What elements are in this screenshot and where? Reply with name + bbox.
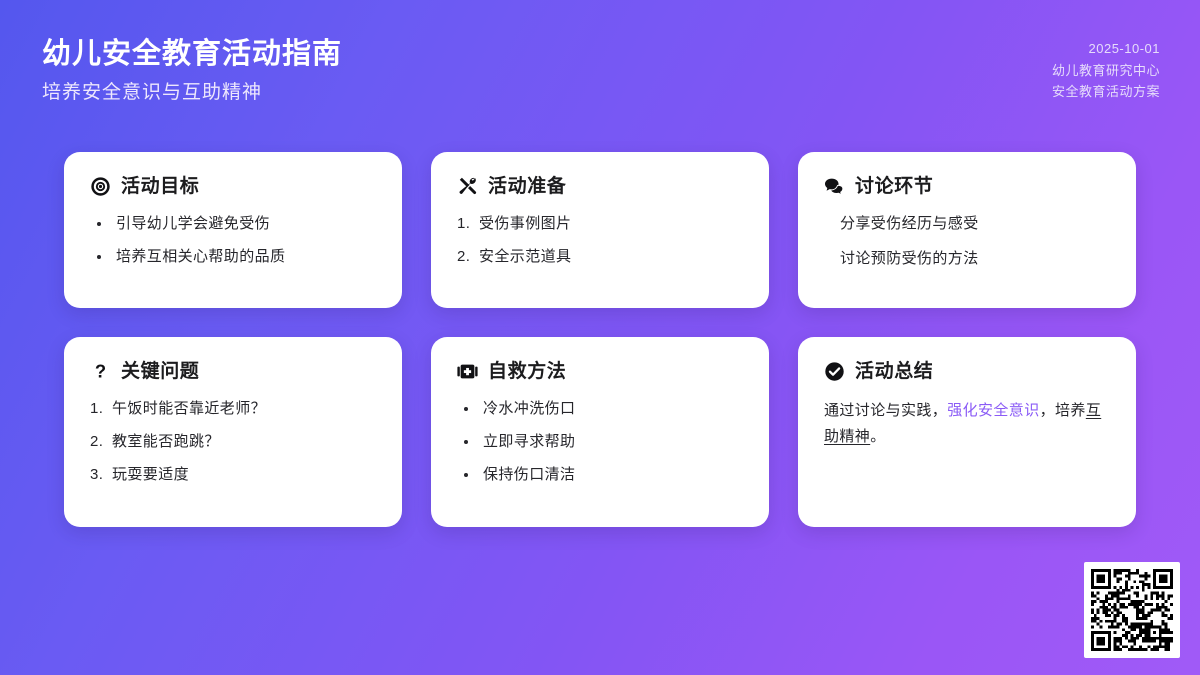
card-title: 活动准备 (488, 177, 566, 196)
card-list: 1.午饭时能否靠近老师？ 2.教室能否跑跳？ 3.玩耍要适度 (90, 398, 376, 485)
header-meta: 2025-10-01 幼儿教育研究中心 安全教育活动方案 (1052, 36, 1160, 101)
list-item: 保持伤口清洁 (457, 464, 743, 486)
card-title: 关键问题 (121, 362, 199, 381)
card-title: 活动总结 (855, 362, 933, 381)
meta-date: 2025-10-01 (1052, 40, 1160, 58)
list-item-text: 安全示范道具 (479, 248, 571, 265)
card-header: 讨论环节 (824, 176, 1110, 197)
list-item: 培养互相关心帮助的品质 (90, 246, 376, 268)
list-item-text: 玩耍要适度 (112, 466, 189, 483)
page-title: 幼儿安全教育活动指南 (42, 36, 342, 74)
card-header: 活动目标 (90, 176, 376, 197)
target-icon (90, 176, 111, 197)
card-header: 活动总结 (824, 361, 1110, 382)
card-grid: 活动目标 引导幼儿学会避免受伤 培养互相关心帮助的品质 (64, 152, 1136, 527)
list-item: 3.玩耍要适度 (90, 464, 376, 486)
card-list: 1.受伤事例图片 2.安全示范道具 (457, 213, 743, 268)
card-title: 自救方法 (488, 362, 566, 381)
card-self-rescue[interactable]: 自救方法 冷水冲洗伤口 立即寻求帮助 保持伤口清洁 (431, 337, 769, 527)
card-activity-preparation[interactable]: 活动准备 1.受伤事例图片 2.安全示范道具 (431, 152, 769, 308)
list-item: 1.受伤事例图片 (457, 213, 743, 235)
card-title: 讨论环节 (855, 177, 933, 196)
card-list: 分享受伤经历与感受 讨论预防受伤的方法 (824, 213, 1110, 270)
question-mark-icon: ? (90, 361, 111, 382)
card-list: 引导幼儿学会避免受伤 培养互相关心帮助的品质 (90, 213, 376, 268)
slide-canvas: 幼儿安全教育活动指南 培养安全意识与互助精神 2025-10-01 幼儿教育研究… (0, 0, 1200, 675)
list-item-text: 受伤事例图片 (479, 215, 571, 232)
list-item: 讨论预防受伤的方法 (840, 248, 1110, 270)
card-key-questions[interactable]: ? 关键问题 1.午饭时能否靠近老师？ 2.教室能否跑跳？ 3.玩耍要适度 (64, 337, 402, 527)
list-item: 冷水冲洗伤口 (457, 398, 743, 420)
check-circle-icon (824, 361, 845, 382)
meta-organization: 幼儿教育研究中心 (1052, 62, 1160, 80)
card-summary[interactable]: 活动总结 通过讨论与实践，强化安全意识，培养互助精神。 (798, 337, 1136, 527)
list-item: 2.安全示范道具 (457, 246, 743, 268)
summary-before: 通过讨论与实践， (824, 402, 947, 419)
card-header: ? 关键问题 (90, 361, 376, 382)
card-header: 活动准备 (457, 176, 743, 197)
card-header: 自救方法 (457, 361, 743, 382)
list-item: 分享受伤经历与感受 (840, 213, 1110, 235)
title-block: 幼儿安全教育活动指南 培养安全意识与互助精神 (42, 36, 342, 105)
tools-icon (457, 176, 478, 197)
list-item-text: 教室能否跑跳？ (112, 433, 220, 450)
summary-after: 。 (870, 428, 885, 445)
list-item: 1.午饭时能否靠近老师？ (90, 398, 376, 420)
speech-bubbles-icon (824, 176, 845, 197)
summary-paragraph: 通过讨论与实践，强化安全意识，培养互助精神。 (824, 398, 1110, 451)
card-list: 冷水冲洗伤口 立即寻求帮助 保持伤口清洁 (457, 398, 743, 485)
list-item: 2.教室能否跑跳？ (90, 431, 376, 453)
svg-text:?: ? (95, 361, 106, 382)
list-item: 立即寻求帮助 (457, 431, 743, 453)
summary-middle: ，培养 (1040, 402, 1086, 419)
list-item-text: 午饭时能否靠近老师？ (112, 400, 266, 417)
page-subtitle: 培养安全意识与互助精神 (42, 81, 342, 106)
qr-code-image (1091, 569, 1173, 651)
first-aid-kit-icon (457, 361, 478, 382)
card-activity-goals[interactable]: 活动目标 引导幼儿学会避免受伤 培养互相关心帮助的品质 (64, 152, 402, 308)
card-discussion[interactable]: 讨论环节 分享受伤经历与感受 讨论预防受伤的方法 (798, 152, 1136, 308)
qr-code[interactable] (1084, 562, 1180, 658)
summary-highlight: 强化安全意识 (947, 402, 1039, 419)
list-item: 引导幼儿学会避免受伤 (90, 213, 376, 235)
card-title: 活动目标 (121, 177, 199, 196)
slide-header: 幼儿安全教育活动指南 培养安全意识与互助精神 2025-10-01 幼儿教育研究… (42, 36, 1160, 105)
meta-document-type: 安全教育活动方案 (1052, 83, 1160, 101)
